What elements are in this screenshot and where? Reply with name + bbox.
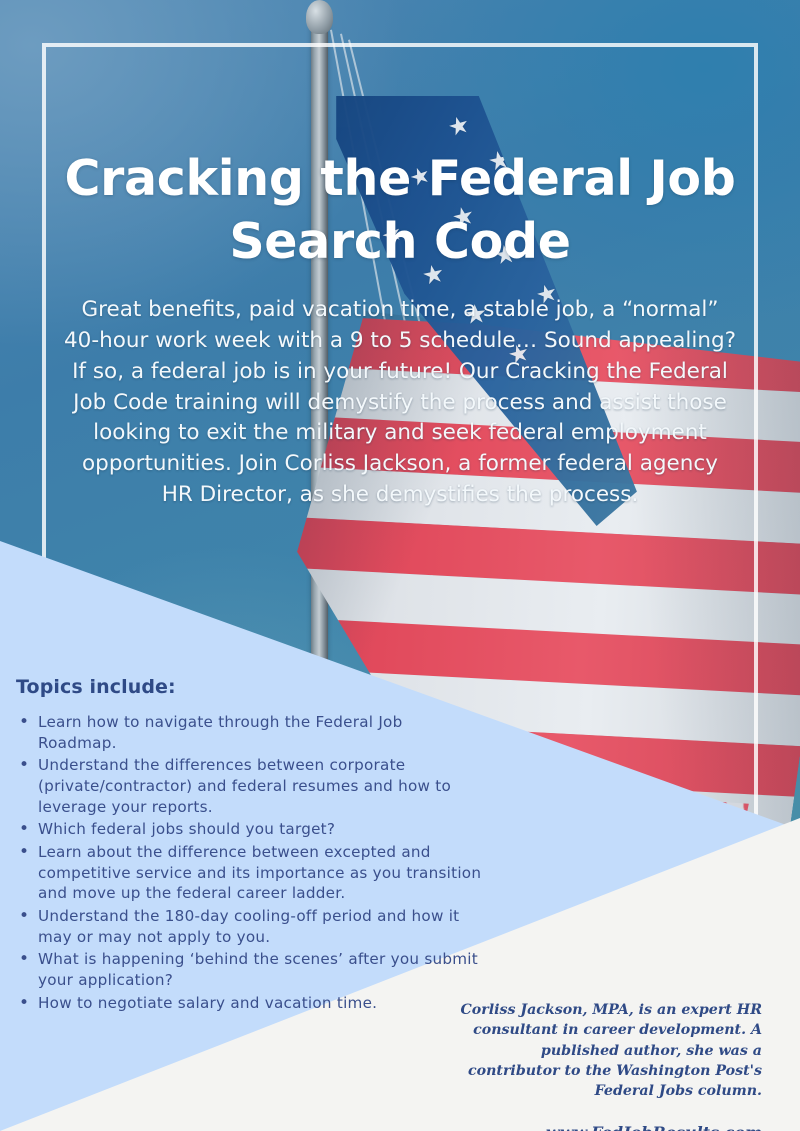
speaker-bio-section: Corliss Jackson, MPA, is an expert HR co… [450, 1000, 762, 1131]
poster-root: ★ ★ ★ ★ ★ ★ ★ ★ ★ ★ ★ ★ ★ ★ ★ ★ ★ ★ Crac… [0, 0, 800, 1131]
list-item: Which federal jobs should you target? [14, 819, 484, 840]
list-item: Understand the 180-day cooling-off perio… [14, 906, 484, 947]
list-item: How to negotiate salary and vacation tim… [14, 993, 484, 1014]
topics-section: Topics include: Learn how to navigate th… [14, 676, 484, 1015]
flagpole-finial-icon [306, 0, 333, 34]
list-item: Learn about the difference between excep… [14, 842, 484, 904]
topics-list: Learn how to navigate through the Federa… [14, 712, 484, 1013]
speaker-bio-text: Corliss Jackson, MPA, is an expert HR co… [450, 1000, 762, 1101]
hero-section: Cracking the Federal Job Search Code Gre… [58, 148, 742, 511]
topics-heading: Topics include: [16, 676, 484, 698]
website-url[interactable]: www.FedJobResults.com [450, 1123, 762, 1131]
list-item: Learn how to navigate through the Federa… [14, 712, 484, 753]
star-icon: ★ [445, 111, 472, 140]
page-title: Cracking the Federal Job Search Code [58, 148, 742, 273]
list-item: What is happening ‘behind the scenes’ af… [14, 949, 484, 990]
hero-description: Great benefits, paid vacation time, a st… [64, 295, 736, 510]
list-item: Understand the differences between corpo… [14, 755, 484, 817]
